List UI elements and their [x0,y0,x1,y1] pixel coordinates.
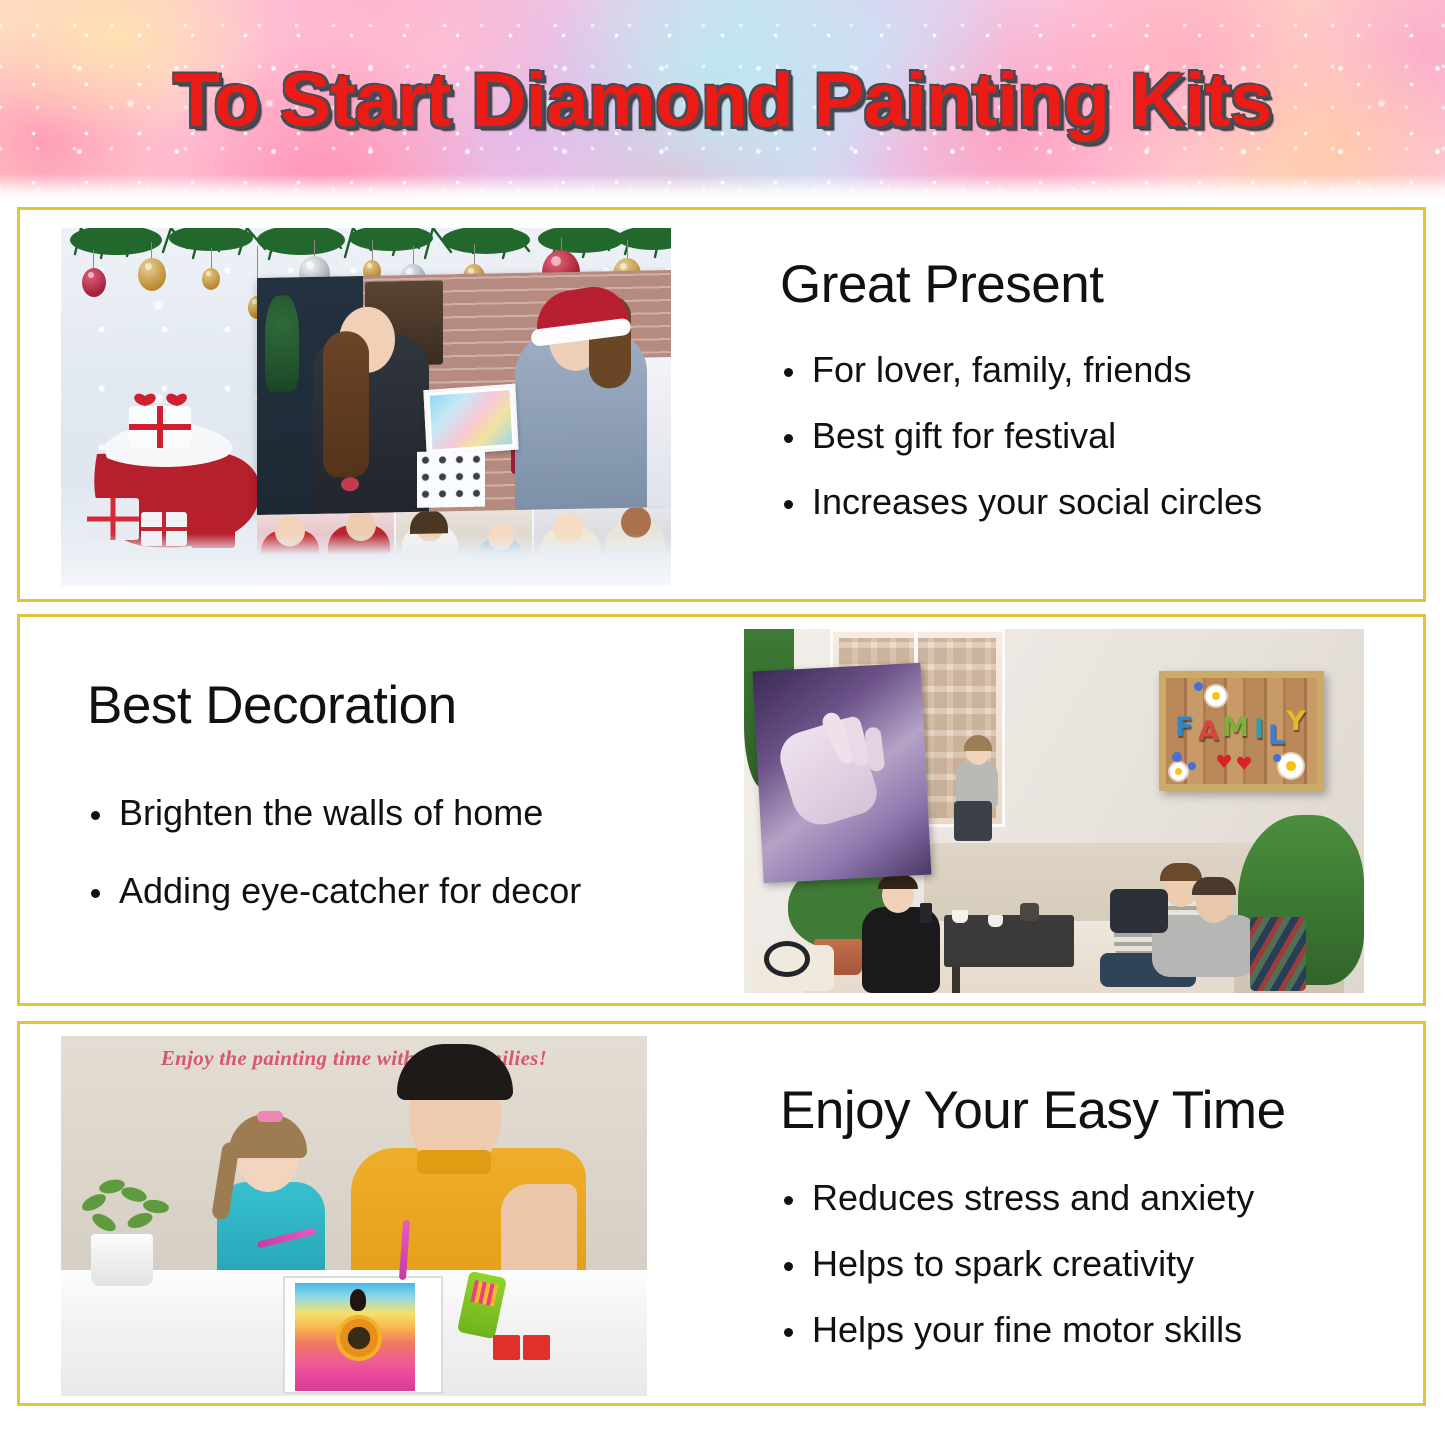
bullet-item: Increases your social circles [780,483,1400,521]
great-present-text-column: Great Present For lover, family, friends… [780,258,1400,520]
feature-title-great-present: Great Present [780,258,1400,311]
bullet-dot-icon [784,1196,793,1205]
bullet-dot-icon [784,500,793,509]
ornament-wire [372,240,373,262]
painting-artwork [430,390,513,450]
bullet-item: Best gift for festival [780,417,1400,455]
bullet-text: Brighten the walls of home [119,792,543,833]
polka-dots [417,451,485,508]
feature-title-enjoy-your-easy-time: Enjoy Your Easy Time [780,1084,1400,1137]
best-decoration-text-column: Best Decoration Brighten the walls of ho… [87,679,727,910]
feature-panel-enjoy-your-easy-time: Enjoy the painting time with your famili… [17,1021,1426,1406]
bullet-item: For lover, family, friends [780,351,1400,389]
diamond-painting-canvas [283,1276,443,1394]
letter-L: L [1268,722,1285,749]
cornflower [1188,762,1196,770]
cornflower [1194,682,1203,691]
bullet-text: For lover, family, friends [812,349,1191,390]
great-present-bullet-list: For lover, family, friends Best gift for… [780,351,1400,520]
christmas-gift-collage-image: Lover Family Friends [61,228,671,586]
bullet-text: Reduces stress and anxiety [812,1177,1254,1218]
ornament-wire [211,248,212,270]
ornament-red [82,268,106,297]
bullet-dot-icon [784,1262,793,1271]
ornament-wire [627,240,628,260]
ornament-wire [413,246,414,266]
father-figure [351,1046,586,1296]
striped-blanket [1250,917,1306,991]
letter-F: F [1175,714,1193,741]
daisy-flower [1170,763,1187,780]
bullet-dot-icon [91,811,100,820]
bullet-dot-icon [784,1328,793,1337]
family-wall-art: F A M I L Y [1159,671,1324,791]
polka-dot-giftbox [417,451,485,508]
feature-panel-great-present: Lover Family Friends [17,207,1426,602]
santa-sack-svg [83,388,273,553]
bullet-dot-icon [91,889,100,898]
person-window-sitting [950,735,1000,835]
gift-exchange-photo [257,270,671,515]
cornflower [1273,754,1281,762]
cornflower [1172,752,1182,762]
letter-I: I [1254,716,1264,743]
feature-title-best-decoration: Best Decoration [87,679,727,732]
cup [988,915,1003,927]
red-heart [1216,753,1232,768]
daisy-flower [1206,686,1226,706]
letter-M: M [1222,714,1249,741]
woman-left-hair [323,331,369,478]
bird-silhouette [350,1289,366,1311]
bullet-dot-icon [784,368,793,377]
ornament-wire [474,244,475,266]
leaf [89,1210,118,1234]
father-hair [397,1044,513,1100]
hair-clip [257,1111,283,1122]
leaf [126,1210,155,1231]
bullet-item: Helps your fine motor skills [780,1311,1400,1349]
feature-panel-best-decoration: Best Decoration Brighten the walls of ho… [17,614,1426,1006]
plant-pot [91,1234,153,1286]
sunflower [336,1315,382,1361]
bullet-text: Helps to spark creativity [812,1243,1194,1284]
girl-figure [211,1078,331,1278]
letter-Y: Y [1286,708,1306,735]
snow-foreground [61,534,671,586]
bullet-text: Increases your social circles [812,481,1262,522]
enjoy-easy-time-text-column: Enjoy Your Easy Time Reduces stress and … [780,1084,1400,1348]
cup [952,910,968,923]
enjoy-easy-time-bullet-list: Reduces stress and anxiety Helps to spar… [780,1179,1400,1348]
leaf [79,1191,108,1215]
bullet-item: Brighten the walls of home [87,794,727,832]
cushion-ring-motif [764,941,810,977]
father-daughter-painting-image: Enjoy the painting time with your famili… [61,1036,647,1396]
bullet-text: Best gift for festival [812,415,1116,456]
person-floor-woman-black [856,877,944,993]
header-banner: To Start Diamond Painting Kits [0,0,1445,200]
bullet-dot-icon [784,434,793,443]
letter-A: A [1198,718,1219,745]
bullet-text: Adding eye-catcher for decor [119,870,581,911]
hand-closeup-overlay-image [753,663,932,884]
teapot [1020,903,1039,921]
best-decoration-bullet-list: Brighten the walls of home Adding eye-ca… [87,794,727,910]
diamond-tray-red [493,1335,520,1360]
diamond-tray-red [523,1335,550,1360]
bullet-item: Reduces stress and anxiety [780,1179,1400,1217]
rainbow-sunflower-artwork [295,1283,415,1391]
red-heart [1236,755,1252,770]
ornament-small-gold [202,268,220,290]
diamond-painting-gift [423,384,518,456]
living-room-decoration-image: F A M I L Y [744,629,1364,993]
polo-collar [417,1150,491,1174]
page-title: To Start Diamond Painting Kits [0,0,1445,200]
daisy-flower [1279,754,1303,778]
bullet-item: Helps to spark creativity [780,1245,1400,1283]
throw-pillow-dark [1110,889,1168,933]
ornament-gold [138,258,166,291]
bullet-text: Helps your fine motor skills [812,1309,1242,1350]
bullet-item: Adding eye-catcher for decor [87,872,727,910]
santa-gift-sack [83,388,273,553]
christmas-tree [265,295,299,392]
